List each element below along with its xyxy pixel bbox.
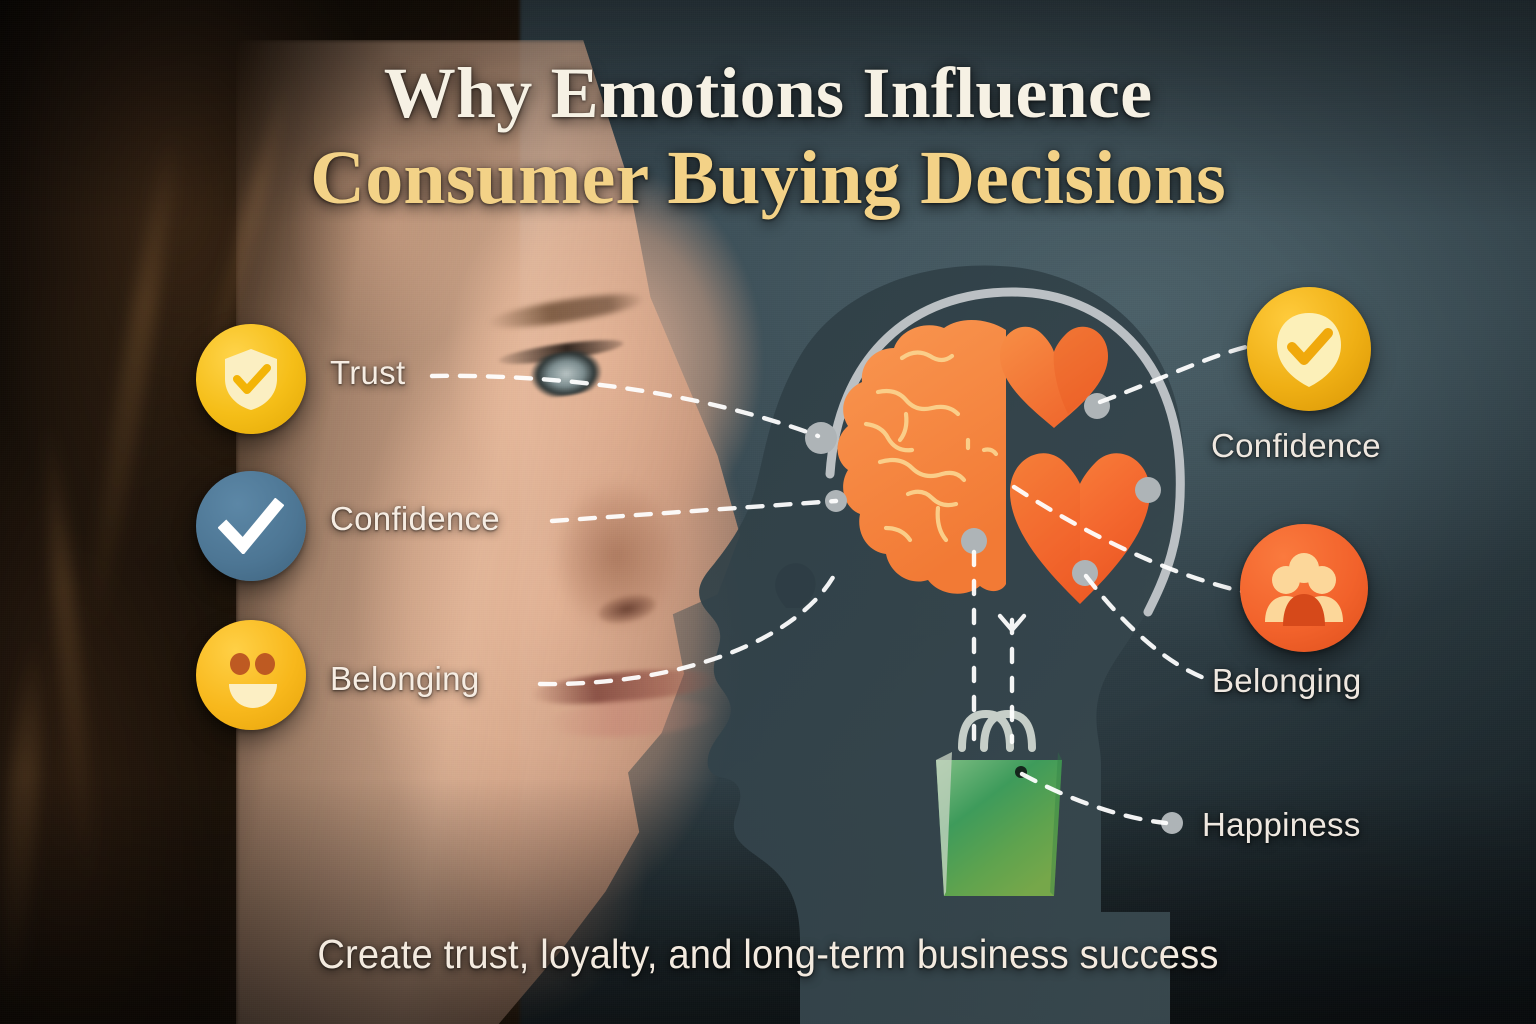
- left-label-confidence: Confidence: [330, 500, 500, 538]
- confidence-icon-badge-left[interactable]: [196, 471, 306, 581]
- left-label-trust: Trust: [330, 354, 405, 392]
- headline: Why Emotions Influence Consumer Buying D…: [0, 58, 1536, 215]
- badge-check-icon: [1269, 307, 1349, 391]
- belonging-icon-badge-right[interactable]: [1240, 524, 1368, 652]
- infographic-canvas: Why Emotions Influence Consumer Buying D…: [0, 0, 1536, 1024]
- right-label-belonging: Belonging: [1212, 662, 1362, 700]
- check-circle-icon: [218, 498, 284, 554]
- headline-line-2: Consumer Buying Decisions: [0, 141, 1536, 215]
- right-label-confidence: Confidence: [1211, 427, 1381, 465]
- smiley-face-icon: [211, 635, 291, 715]
- caption: Create trust, loyalty, and long-term bus…: [54, 931, 1482, 978]
- confidence-icon-badge-right[interactable]: [1247, 287, 1371, 411]
- headline-line-1: Why Emotions Influence: [0, 58, 1536, 129]
- right-label-happiness: Happiness: [1202, 806, 1361, 844]
- people-group-icon: [1259, 548, 1349, 628]
- trust-icon-badge[interactable]: [196, 324, 306, 434]
- belonging-icon-badge-left[interactable]: [196, 620, 306, 730]
- left-label-belonging: Belonging: [330, 660, 480, 698]
- shield-check-icon: [220, 346, 282, 412]
